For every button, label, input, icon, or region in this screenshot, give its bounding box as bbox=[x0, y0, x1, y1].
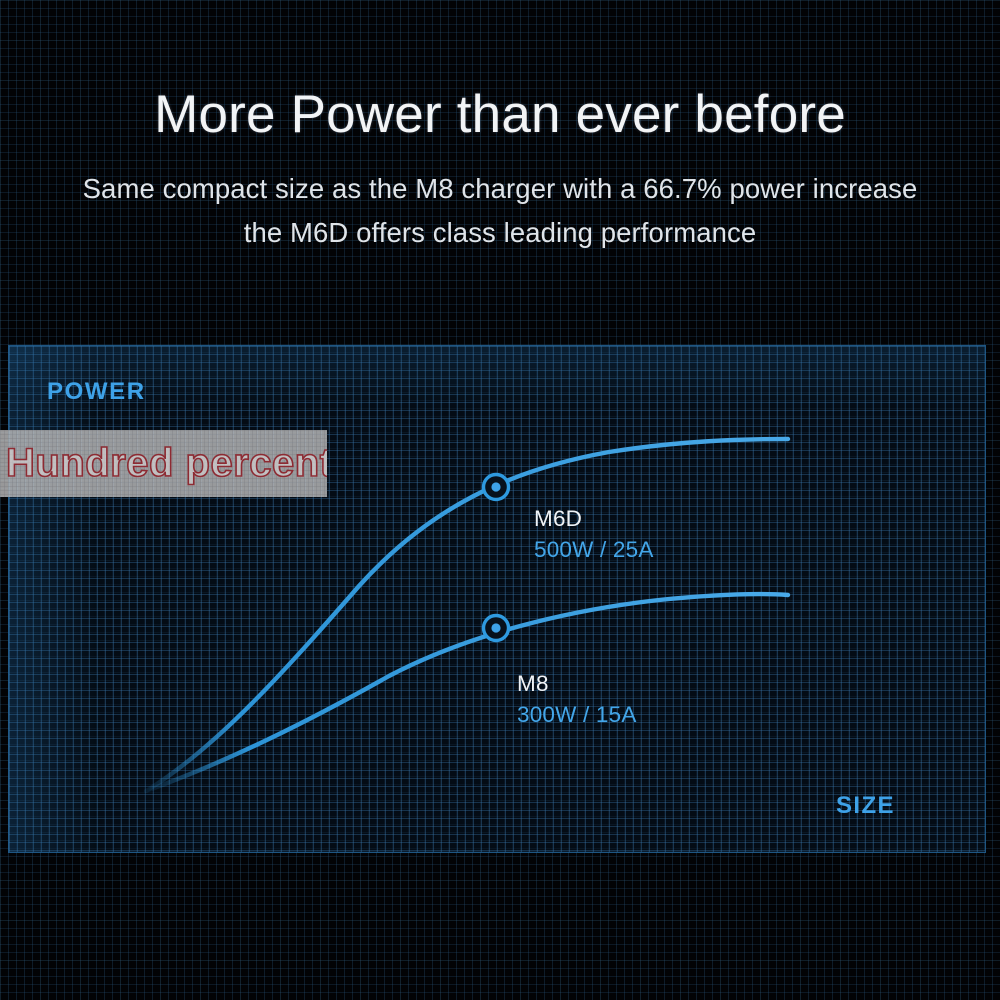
x-axis-label: SIZE bbox=[836, 792, 895, 820]
chart-panel: POWER SIZE M6D 500W / 25A M8 300W / 15A bbox=[8, 345, 986, 853]
subtitle-line-1: Same compact size as the M8 charger with… bbox=[0, 167, 1000, 210]
series-name-m8: M8 bbox=[517, 673, 637, 696]
series-spec-m8: 300W / 15A bbox=[517, 704, 637, 727]
series-spec-m6d: 500W / 25A bbox=[534, 539, 654, 562]
y-axis-label: POWER bbox=[47, 378, 146, 406]
subtitle-line-2: the M6D offers class leading performance bbox=[0, 211, 1000, 254]
header: More Power than ever before Same compact… bbox=[0, 0, 1000, 254]
chart-plot-area bbox=[9, 346, 987, 854]
marker-m6d[interactable] bbox=[484, 475, 509, 500]
watermark-text: Hundred percent bbox=[6, 434, 327, 492]
curve-m8 bbox=[146, 594, 788, 791]
page-title: More Power than ever before bbox=[0, 0, 1000, 143]
poster-canvas: More Power than ever before Same compact… bbox=[0, 0, 1000, 1000]
watermark-band: Hundred percent bbox=[0, 430, 327, 497]
page-subtitle: Same compact size as the M8 charger with… bbox=[0, 143, 1000, 254]
series-name-m6d: M6D bbox=[534, 508, 654, 531]
series-label-m6d: M6D 500W / 25A bbox=[534, 508, 654, 561]
series-label-m8: M8 300W / 15A bbox=[517, 673, 637, 726]
marker-m8[interactable] bbox=[484, 616, 509, 641]
